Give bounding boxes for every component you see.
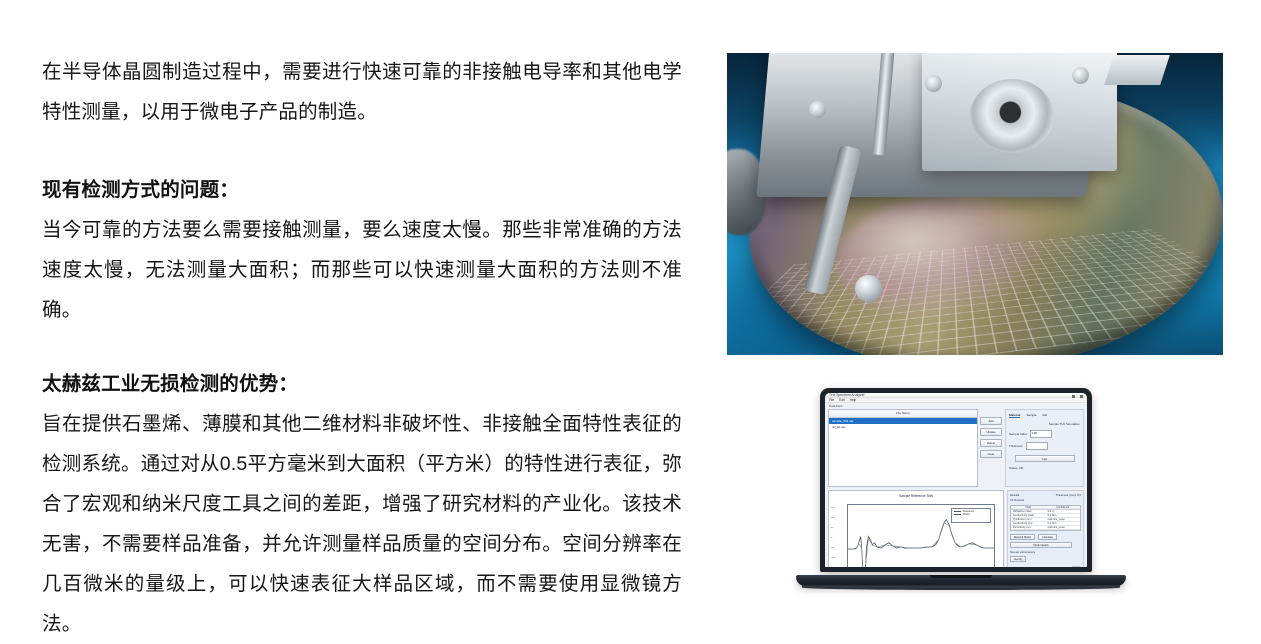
y-tick-label: 150 [831,507,835,509]
cell-value: 0.1 S/m [1046,514,1081,517]
file-list-column-header: File Name [829,410,977,418]
bolt-icon [925,75,942,92]
cell-field: Conductivity (im) [1011,522,1046,525]
clear-button[interactable]: Clear [980,450,1002,458]
cell-field: Thickness (mm) [1011,518,1046,521]
plot-axes: Measured Model [847,504,995,567]
tab-sample[interactable]: Sample [1026,413,1036,418]
waveform-plot-panel: Sample Reference Shift 150 100 50 0 -50 … [828,490,1004,567]
sweep-parameters-label: Sweep parameters [1010,548,1081,556]
menu-item-edit[interactable]: Edit [839,398,845,402]
y-tick-label: -50 [831,547,834,549]
column-header-field: Field [1011,506,1046,509]
laptop-lid: THz Spectrum Analyzer File Edit Help Dat… [820,388,1092,572]
sample-index-label: Sample Index [1009,432,1027,436]
section-body-problems: 当今可靠的方法要么需要接触测量，要么速度太慢。那些非常准确的方法速度太慢，无法测… [42,210,682,330]
add-button[interactable]: Add [980,417,1002,425]
section-heading-problems: 现有检测方式的问题： [42,170,682,210]
app-window-title: THz Spectrum Analyzer [829,393,865,397]
results-control-panel: Results Thickness (mm): 0.5 Fit Results … [1007,490,1084,567]
intro-paragraph: 在半导体晶圆制造过程中，需要进行快速可靠的非接触电导率和其他电学特性测量，以用于… [42,52,682,132]
section-body-advantages: 旨在提供石墨烯、薄膜和其他二维材料非破坏性、非接触全面特性表征的检测系统。通过对… [42,404,682,644]
probe-tip [855,275,882,302]
thickness-input[interactable] [1026,442,1048,450]
section-spacer [42,330,682,364]
status-text: Status: OK [1009,466,1024,470]
cell-value: 3.4 (-) [1046,510,1081,513]
calculate-button[interactable]: Calculate [1038,534,1057,540]
thz-application-window: THz Spectrum Analyzer File Edit Help Dat… [825,393,1087,567]
sample-index-input[interactable]: 1.00 [1030,430,1052,438]
cell-value: 0.1 S/m [1046,522,1081,525]
app-body: Data Files File Name sample_001.dat ref_… [825,403,1087,567]
cell-field: Conductivity (real) [1011,514,1046,517]
parameter-panel: Material Sample Ref Sample THz Simulatio… [1005,409,1084,487]
legend-label-model: Model [963,513,970,516]
table-row: Permittivity (re) optimize_ymax [1011,526,1080,530]
cell-field: Permittivity (re) [1011,526,1046,529]
plot-title: Sample Reference Shift [829,491,1003,498]
data-files-label: Data Files [825,403,1087,409]
menu-item-file[interactable]: File [829,398,834,402]
legend-swatch [954,514,961,515]
laptop-software-mockup: THz Spectrum Analyzer File Edit Help Dat… [796,388,1126,590]
file-list-item[interactable]: ref_01.dat [829,424,977,430]
fit-results-title: Fit Results [1010,497,1081,503]
parameter-tabs[interactable]: Material Sample Ref [1009,413,1080,418]
laptop-foot [802,585,1120,590]
thickness-label: Thickness [1009,444,1023,448]
menu-item-help[interactable]: Help [850,398,857,402]
identify-button[interactable]: Identify [1010,556,1026,562]
tab-ref[interactable]: Ref [1043,413,1048,418]
update-button[interactable]: Update [980,428,1002,436]
y-tick-label: 0 [831,537,832,539]
column-header-confidence: Confidence [1046,506,1081,509]
delete-button[interactable]: Delete [980,439,1002,447]
optics-lens [970,79,1054,153]
plot-legend: Measured Model [951,508,991,523]
legend-swatch [954,511,961,512]
article-text-column: 在半导体晶圆制造过程中，需要进行快速可靠的非接触电导率和其他电学特性测量，以用于… [42,52,682,644]
fit-results-table: Field Confidence Refractive index 3.4 (-… [1010,505,1081,531]
model-button-row: Material Model Calculate [1010,534,1081,540]
section-heading-advantages: 太赫兹工业无损检测的优势： [42,364,682,404]
top-area: File Name sample_001.dat ref_01.dat Add … [825,409,1087,490]
material-model-button[interactable]: Material Model [1010,534,1035,540]
param-subtitle: Sample THz Simulation [1049,422,1080,426]
cell-field: Refractive index [1011,510,1046,513]
bolt-icon [1072,67,1089,84]
cell-value: optimize_ymax [1046,526,1081,529]
y-tick-label: 50 [831,527,833,529]
thickness-row: Thickness [1009,442,1080,450]
cell-value: optimize_ymax [1046,518,1081,521]
probe-clip [1104,55,1170,85]
y-tick-label: 100 [831,517,835,519]
file-list[interactable]: File Name sample_001.dat ref_01.dat [828,409,978,487]
tab-material[interactable]: Material [1009,413,1020,418]
laptop-screen: THz Spectrum Analyzer File Edit Help Dat… [825,393,1087,567]
semiconductor-wafer-photo [727,53,1223,355]
bolt-icon [809,101,826,118]
file-panel: File Name sample_001.dat ref_01.dat Add … [828,409,1002,487]
y-tick-label: -100 [831,557,835,559]
status-row: Status: OK [1009,466,1080,470]
update-column-header: Update [1072,565,1081,567]
bottom-area: Sample Reference Shift 150 100 50 0 -50 … [825,490,1087,567]
file-action-buttons: Add Update Delete Clear [980,409,1002,487]
calc-button[interactable]: Calc [1015,455,1075,462]
sample-index-row: Sample Index 1.00 [1009,430,1080,438]
